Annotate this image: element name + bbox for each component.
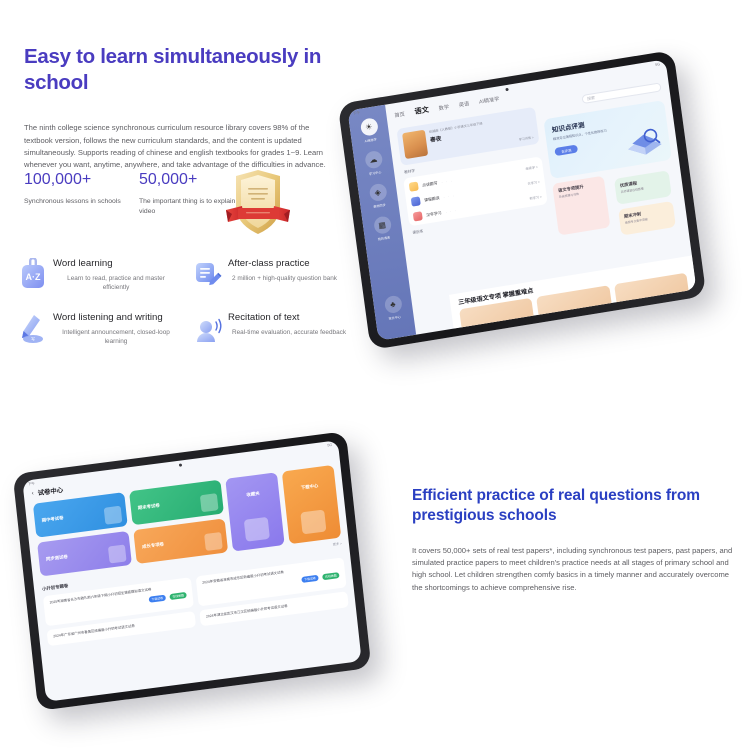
feature-row: A·Z Word learning Learn to read, practic… — [18, 256, 368, 292]
download-paper-button[interactable]: 下载试卷 — [149, 595, 167, 604]
content-columns: 统编版《人教版》小学语文三年级下册 春夜 学习详情 > 教材学 点读跟写 · ·… — [396, 86, 681, 274]
grid-icon: ▦ — [373, 215, 392, 235]
feature-row: 写 Word listening and writing Intelligent… — [18, 310, 368, 346]
feature-after-class-practice: After-class practice 2 million + high-qu… — [193, 256, 368, 292]
svg-text:A·Z: A·Z — [26, 272, 41, 282]
feature-word-listening-writing: 写 Word listening and writing Intelligent… — [18, 310, 193, 346]
list-item-action[interactable]: 去学习 > — [527, 179, 540, 186]
feature-text: After-class practice 2 million + high-qu… — [228, 256, 337, 283]
tab-ai-precision[interactable]: AI精准学 — [479, 95, 500, 105]
tile-download-center[interactable]: 下载中心 — [282, 465, 341, 544]
sidebar-item-textbook-sync[interactable]: ◈ 教材同步 — [358, 181, 399, 211]
feature-title: Word learning — [53, 258, 175, 270]
tile-midterm-papers[interactable]: 期中考试卷 — [33, 492, 128, 538]
stats-row: 100,000+ Synchronous lessons in schools … — [24, 172, 344, 247]
list-item-dots: · · · — [443, 193, 455, 199]
assessment-start-button[interactable]: 去评测 — [554, 145, 578, 157]
sidebar-item-label: 我的课表 — [377, 235, 390, 242]
tab-english[interactable]: 英语 — [458, 100, 469, 109]
section-two-copy: Efficient practice of real questions fro… — [412, 486, 734, 594]
az-card-icon: A·Z — [18, 258, 48, 290]
section-one-copy: Easy to learn simultaneously in school T… — [24, 44, 344, 171]
left-column: 统编版《人教版》小学语文三年级下册 春夜 学习详情 > 教材学 点读跟写 · ·… — [396, 107, 554, 274]
download-paper-button[interactable]: 下载试卷 — [301, 575, 319, 584]
chinese-improvement-card[interactable]: 语文专项提升 系统梳理与归纳 — [552, 176, 610, 236]
tile-label: 收藏夹 — [246, 491, 260, 498]
tile-label: 成长专项卷 — [142, 541, 164, 549]
search-placeholder: 搜索 — [587, 95, 596, 102]
mini-card-grid: 语文专项提升 系统梳理与归纳 优质课程 名师课堂在线直播 期末冲刺 高频考点集中… — [552, 164, 681, 250]
sidebar-item-label: 学习中心 — [369, 169, 382, 176]
lesson-meta: 统编版《人教版》小学语文三年级下册 春夜 学习详情 > — [429, 113, 534, 156]
feature-text: Word learning Learn to read, practice an… — [53, 256, 175, 292]
award-badge-icon — [222, 166, 294, 244]
document-pen-icon — [193, 258, 223, 290]
stat-label: Synchronous lessons in schools — [24, 197, 124, 207]
feature-subtitle: Real-time evaluation, accurate feedback — [232, 328, 346, 337]
lesson-thumbnail — [402, 130, 428, 159]
svg-text:写: 写 — [31, 337, 35, 342]
final-sprint-card[interactable]: 期末冲刺 高频考点集中突破 — [618, 201, 676, 236]
paper-center-page: ‹ 试卷中心 期中考试卷 期末考试卷 — [31, 450, 354, 701]
feature-recitation-of-text: Recitation of text Real-time evaluation,… — [193, 310, 368, 346]
course-follow-icon — [411, 196, 421, 206]
list-item-label: 课程跟读 — [424, 195, 440, 203]
list-item-label: 汉字学习 — [426, 210, 442, 218]
tile-label: 下载中心 — [301, 483, 319, 490]
tablet-screen-top: 下午 5G ☀ AI精准学 ☁ 学习中心 ◈ 教材同步 ▦ 我的课表 ♣ 家长中 — [348, 59, 697, 340]
stat-item: 100,000+ Synchronous lessons in schools — [24, 172, 124, 207]
status-network: 5G — [327, 443, 332, 449]
sidebar-item-label: 教材同步 — [373, 202, 386, 209]
tile-label: 期中考试卷 — [41, 515, 63, 523]
sidebar-item-label: 家长中心 — [388, 314, 401, 321]
read-follow-icon — [409, 181, 419, 191]
feature-text: Word listening and writing Intelligent a… — [53, 310, 175, 346]
tile-favorites[interactable]: 收藏夹 — [225, 472, 284, 551]
list-item-dots: · · · — [445, 208, 457, 214]
chevron-left-icon[interactable]: ‹ — [31, 490, 34, 496]
sidebar-item-my-schedule[interactable]: ▦ 我的课表 — [362, 214, 403, 244]
status-network: 5G — [655, 62, 660, 68]
list-item-dots: · · · — [441, 178, 453, 184]
feature-text: Recitation of text Real-time evaluation,… — [228, 310, 346, 337]
book-magnifier-icon — [622, 124, 666, 160]
feature-list: A·Z Word learning Learn to read, practic… — [18, 256, 368, 364]
page-title: Easy to learn simultaneously in school — [24, 44, 344, 95]
cloud-icon: ☁ — [364, 150, 383, 170]
feature-title: Word listening and writing — [53, 312, 175, 324]
right-column: 知识点评测 精准定位薄弱知识点，个性化推荐练习 去评测 — [542, 86, 682, 250]
tile-label: 同步测试卷 — [46, 554, 68, 562]
sun-icon: ☀ — [359, 117, 378, 137]
feature-title: After-class practice — [228, 258, 337, 270]
tab-home[interactable]: 首页 — [394, 111, 405, 120]
tile-final-papers[interactable]: 期末考试卷 — [129, 480, 224, 526]
feature-title: Recitation of text — [228, 312, 346, 324]
section-two-paragraph: It covers 50,000+ sets of real test pape… — [412, 545, 734, 594]
exam-paper-icon — [200, 493, 219, 512]
folder-heart-icon — [244, 517, 270, 542]
pen-write-icon: 写 — [18, 312, 48, 344]
tile-label: 期末考试卷 — [138, 503, 160, 511]
sidebar-item-study-center[interactable]: ☁ 学习中心 — [353, 148, 394, 178]
page-title: 试卷中心 — [37, 485, 63, 497]
online-practice-button[interactable]: 在线做题 — [169, 592, 187, 601]
sidebar-item-ai-precision[interactable]: ☀ AI精准学 — [349, 116, 390, 146]
speaker-person-icon — [193, 312, 223, 344]
sidebar-item-parent-center[interactable]: ♣ 家长中心 — [373, 293, 414, 323]
feature-subtitle: Intelligent announcement, closed-loop le… — [57, 328, 175, 347]
list-item-action[interactable]: 继续学 > — [525, 164, 538, 171]
section-one-paragraph: The ninth college science synchronous cu… — [24, 122, 334, 171]
pencil-paper-icon — [204, 532, 223, 551]
status-time: 下午 — [28, 482, 36, 488]
mini-card-column: 优质课程 名师课堂在线直播 期末冲刺 高频考点集中突破 — [608, 164, 681, 241]
character-study-icon — [413, 211, 423, 221]
exam-paper-icon — [104, 506, 123, 525]
pencil-paper-icon — [108, 544, 127, 563]
list-item-label: 点读跟写 — [422, 180, 438, 188]
download-cloud-icon — [300, 509, 326, 534]
tablet-screen-bottom: 下午 5G ‹ 试卷中心 期中考试卷 期末考试卷 — [22, 440, 361, 702]
quality-courses-card[interactable]: 优质课程 名师课堂在线直播 — [614, 170, 672, 205]
family-icon: ♣ — [383, 295, 402, 315]
diamond-icon: ◈ — [368, 183, 387, 203]
stat-number: 100,000+ — [24, 172, 124, 188]
list-item-action[interactable]: 新学习 > — [529, 194, 542, 201]
feature-subtitle: Learn to read, practice and master effic… — [57, 274, 175, 293]
sidebar-item-label: AI精准学 — [364, 136, 377, 143]
tablet-device-bottom: 下午 5G ‹ 试卷中心 期中考试卷 期末考试卷 — [13, 431, 372, 711]
online-practice-button[interactable]: 在线做题 — [322, 572, 340, 581]
feature-word-learning: A·Z Word learning Learn to read, practic… — [18, 256, 193, 292]
tab-math[interactable]: 数学 — [438, 103, 449, 112]
section-two-title: Efficient practice of real questions fro… — [412, 486, 734, 526]
feature-subtitle: 2 million + high-quality question bank — [232, 274, 337, 283]
